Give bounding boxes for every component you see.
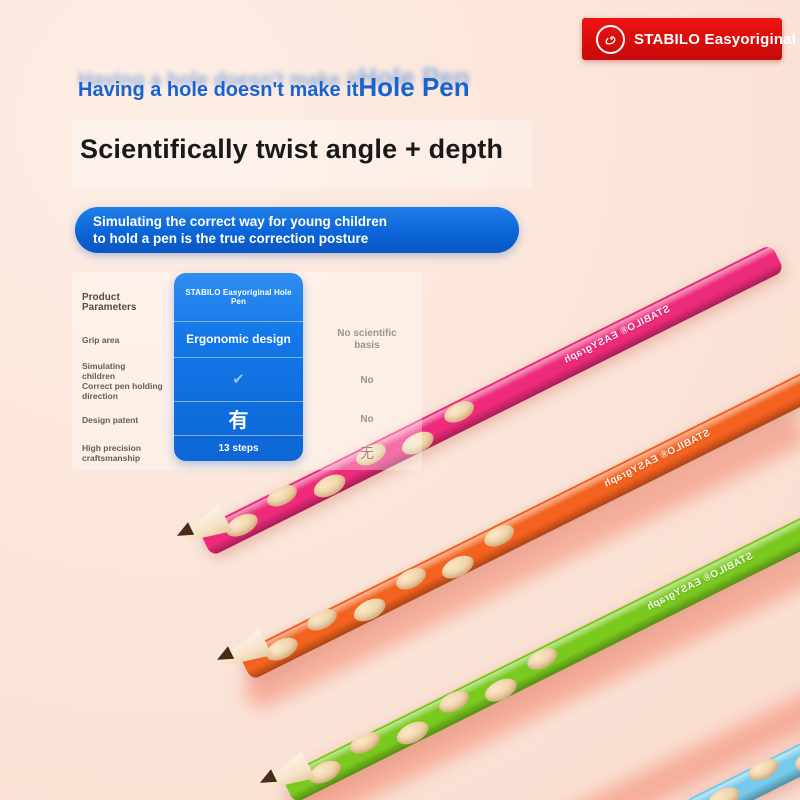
parameter-line-3: Correct pen holding: [82, 381, 172, 391]
headline-emphasis: Hole Pen: [358, 72, 469, 103]
row-competitor: No scientific basis: [312, 328, 422, 352]
statement-line-1: Simulating the correct way for young chi…: [93, 213, 519, 230]
headline-lead: Having a hole doesn't make it: [78, 79, 358, 102]
product-column-header: STABILO Easyoriginal Hole Pen: [174, 273, 303, 321]
row-parameter: High precision craftsmanship: [72, 443, 172, 463]
row-parameter: Design patent: [72, 415, 172, 425]
highlighted-product-column: STABILO Easyoriginal Hole Pen Ergonomic …: [174, 273, 303, 461]
parameter-line-1: Simulating: [82, 361, 172, 371]
row-competitor: No: [312, 414, 422, 426]
logo-text: STABILO Easyoriginal: [634, 31, 796, 48]
column-header-parameter: Product Parameters: [72, 293, 172, 313]
statement-pill: Simulating the correct way for young chi…: [75, 207, 519, 253]
product-value-craftsmanship: 13 steps: [174, 435, 303, 461]
row-competitor: No: [312, 375, 422, 387]
parameter-line-4: direction: [82, 391, 172, 401]
product-value-design-patent: 有: [174, 401, 303, 435]
competitor-line-2: basis: [312, 340, 422, 352]
statement-line-2: to hold a pen is the true correction pos…: [93, 230, 519, 247]
product-value-grip-area: Ergonomic design: [174, 321, 303, 357]
poster-canvas: STABILO® EASYgraph STABILO® EASYgraph: [0, 0, 800, 800]
stabilo-logo-badge: STABILO Easyoriginal: [582, 18, 782, 60]
parameter-line-1: High precision: [82, 443, 172, 453]
swan-icon: [596, 25, 625, 54]
headline: Having a hole doesn't make it Hole Pen: [78, 72, 470, 103]
competitor-line-1: No scientific: [312, 328, 422, 340]
parameter-line-2: craftsmanship: [82, 453, 172, 463]
subheadline: Scientifically twist angle + depth: [80, 134, 503, 165]
product-value-pen-holding-direction: ✔: [174, 357, 303, 401]
row-parameter: Simulating children Correct pen holding …: [72, 361, 172, 401]
parameter-line-2: children: [82, 371, 172, 381]
row-parameter: Grip area: [72, 335, 172, 345]
row-competitor: 无: [312, 447, 422, 459]
